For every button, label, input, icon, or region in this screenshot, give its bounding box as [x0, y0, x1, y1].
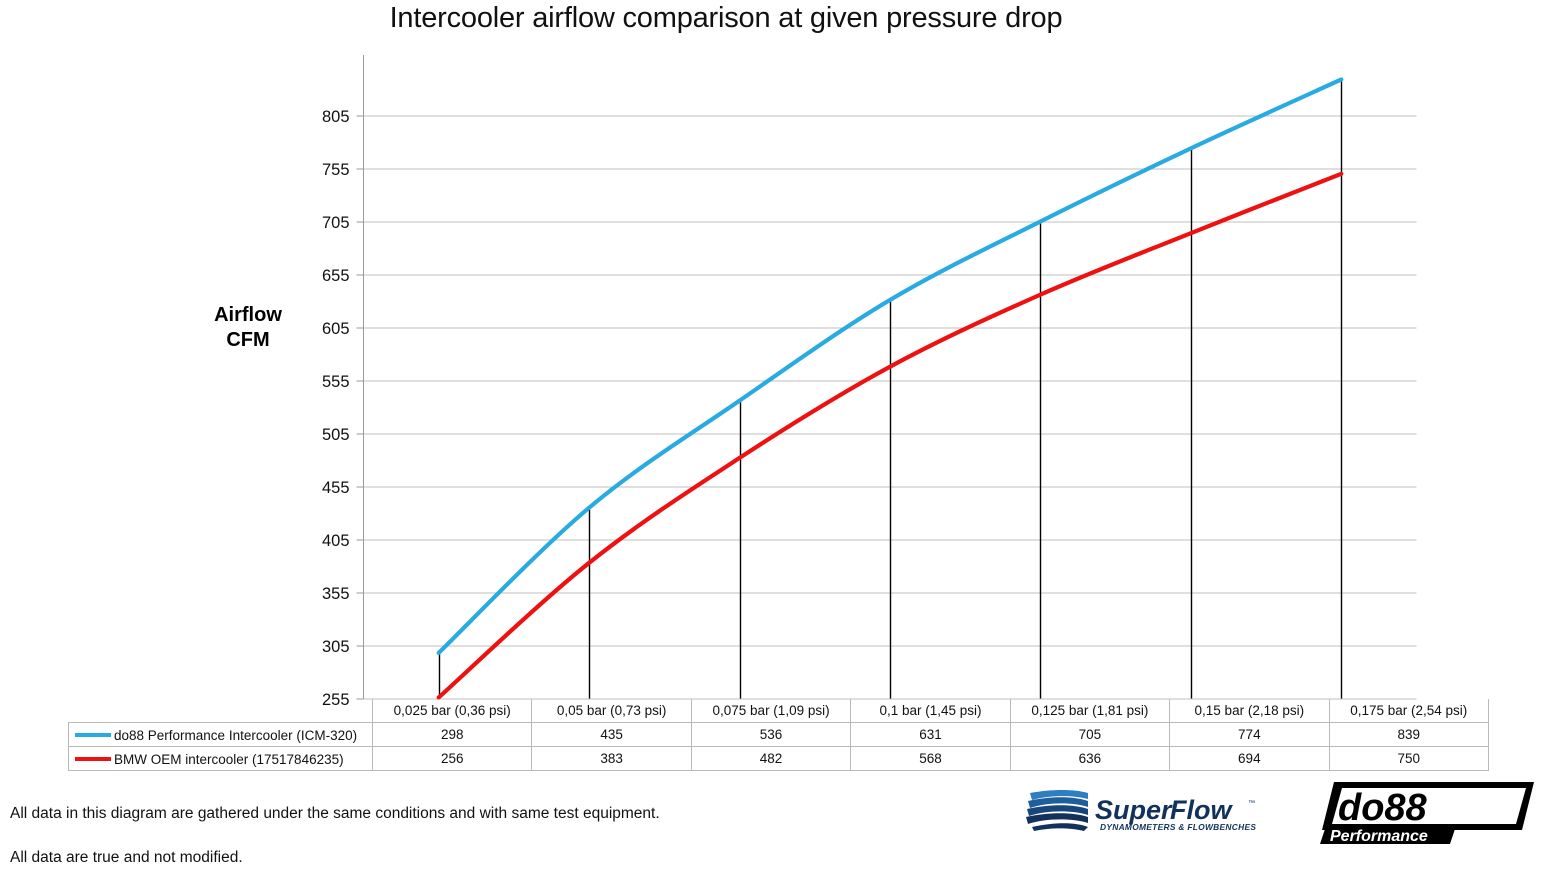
- do88-wordmark: do88: [1338, 787, 1428, 829]
- cell-bmw-4: 636: [1010, 747, 1169, 771]
- table-header-cat-3: 0,1 bar (1,45 psi): [851, 699, 1010, 723]
- y-axis-tick-label: 405: [322, 532, 350, 550]
- table-header-cat-6: 0,175 bar (2,54 psi): [1329, 699, 1488, 723]
- legend-item-bmw[interactable]: BMW OEM intercooler (17517846235): [69, 747, 373, 771]
- cell-bmw-0: 256: [373, 747, 532, 771]
- cell-do88-0: 298: [373, 723, 532, 747]
- category-drop-lines: [440, 79, 1342, 698]
- cell-bmw-3: 568: [851, 747, 1010, 771]
- table-row: BMW OEM intercooler (17517846235) 256 38…: [69, 747, 1489, 771]
- y-axis-tick-label: 705: [322, 214, 350, 232]
- legend-label-bmw: BMW OEM intercooler (17517846235): [114, 751, 344, 766]
- do88-logo: do88 Performance: [1316, 780, 1534, 846]
- table-header-cat-2: 0,075 bar (1,09 psi): [691, 699, 850, 723]
- superflow-logo: Super Flow ™ DYNAMOMETERS & FLOWBENCHES: [1022, 787, 1272, 835]
- legend-swatch-red-icon: [75, 757, 111, 761]
- cell-do88-3: 631: [851, 723, 1010, 747]
- legend-swatch-blue-icon: [75, 733, 111, 737]
- cell-bmw-2: 482: [691, 747, 850, 771]
- cell-do88-6: 839: [1329, 723, 1488, 747]
- superflow-wave-icon: [1026, 790, 1088, 831]
- table-row: do88 Performance Intercooler (ICM-320) 2…: [69, 723, 1489, 747]
- superflow-wordmark-super: Super: [1095, 795, 1173, 825]
- y-axis-tick-labels: 255305355405455505555605655705755805: [322, 108, 350, 709]
- table-corner-cell: [69, 699, 373, 723]
- y-axis-tick-label: 555: [322, 373, 350, 391]
- table-header-cat-1: 0,05 bar (0,73 psi): [532, 699, 691, 723]
- gridlines: [357, 116, 1417, 699]
- y-axis-tick-label: 605: [322, 320, 350, 338]
- cell-do88-4: 705: [1010, 723, 1169, 747]
- y-axis-tick-label: 755: [322, 161, 350, 179]
- table-header-cat-4: 0,125 bar (1,81 psi): [1010, 699, 1169, 723]
- y-axis-tick-label: 505: [322, 426, 350, 444]
- table-header-cat-0: 0,025 bar (0,36 psi): [373, 699, 532, 723]
- footnote: All data in this diagram are gathered un…: [10, 781, 660, 891]
- y-axis-tick-label: 455: [322, 479, 350, 497]
- superflow-trademark-icon: ™: [1248, 800, 1255, 807]
- cell-bmw-1: 383: [532, 747, 691, 771]
- y-axis-tick-label: 655: [322, 267, 350, 285]
- superflow-tagline: DYNAMOMETERS & FLOWBENCHES: [1100, 822, 1256, 832]
- y-axis-tick-label: 305: [322, 638, 350, 656]
- cell-bmw-5: 694: [1170, 747, 1329, 771]
- cell-do88-5: 774: [1170, 723, 1329, 747]
- table-header-row: 0,025 bar (0,36 psi) 0,05 bar (0,73 psi)…: [69, 699, 1489, 723]
- y-axis-tick-label: 355: [322, 585, 350, 603]
- cell-do88-2: 536: [691, 723, 850, 747]
- legend-label-do88: do88 Performance Intercooler (ICM-320): [114, 727, 357, 742]
- superflow-wordmark-flow: Flow: [1170, 795, 1233, 825]
- do88-tagline: Performance: [1330, 828, 1428, 845]
- footnote-line-1: All data in this diagram are gathered un…: [10, 803, 660, 825]
- cell-bmw-6: 750: [1329, 747, 1488, 771]
- y-axis-tick-label: 805: [322, 108, 350, 126]
- data-table: 0,025 bar (0,36 psi) 0,05 bar (0,73 psi)…: [68, 699, 1489, 771]
- legend-item-do88[interactable]: do88 Performance Intercooler (ICM-320): [69, 723, 373, 747]
- table-header-cat-5: 0,15 bar (2,18 psi): [1170, 699, 1329, 723]
- cell-do88-1: 435: [532, 723, 691, 747]
